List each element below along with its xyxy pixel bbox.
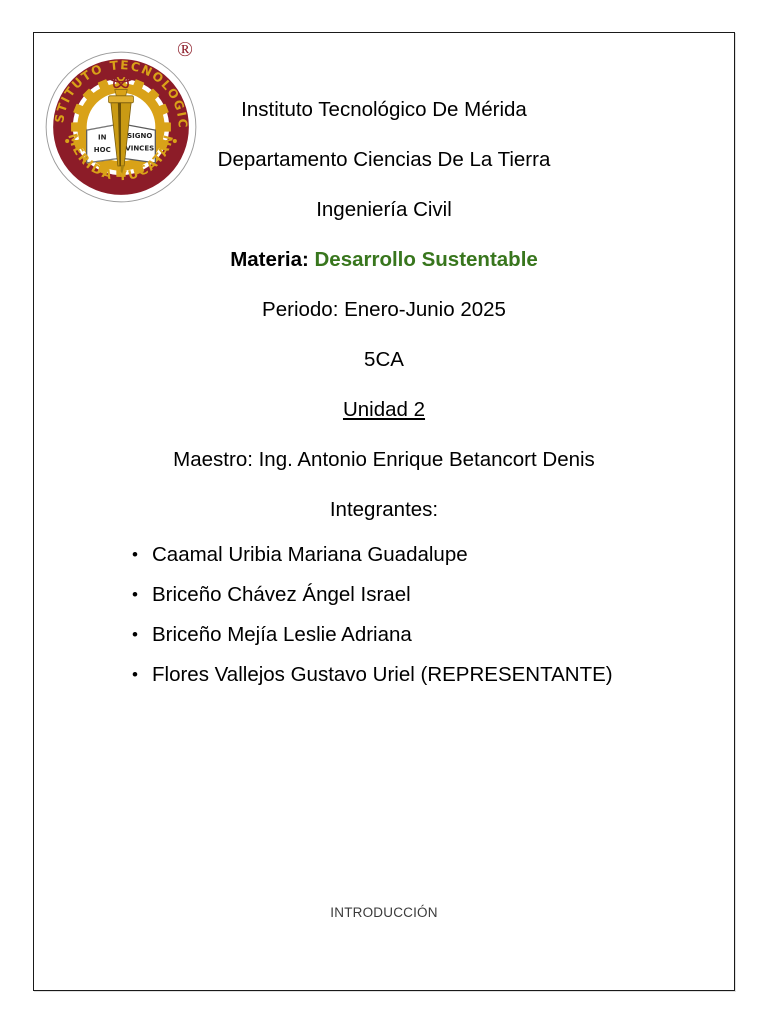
- group-line: 5CA: [34, 335, 734, 385]
- cover-text-block: Instituto Tecnológico De Mérida Departam…: [34, 85, 734, 535]
- list-item: Briceño Mejía Leslie Adriana: [152, 615, 712, 655]
- unit-text: Unidad 2: [343, 398, 425, 421]
- document-page: ®: [33, 32, 735, 991]
- subject-line: Materia: Desarrollo Sustentable: [34, 235, 734, 285]
- members-list: Caamal Uribia Mariana Guadalupe Briceño …: [130, 535, 712, 695]
- subject-label: Materia:: [230, 248, 309, 271]
- members-label: Integrantes:: [34, 485, 734, 535]
- subject-name: Desarrollo Sustentable: [315, 248, 538, 271]
- cover-page-body: ®: [34, 33, 734, 990]
- teacher-line: Maestro: Ing. Antonio Enrique Betancort …: [34, 435, 734, 485]
- unit-line: Unidad 2: [34, 385, 734, 435]
- section-heading-introduccion: INTRODUCCIÓN: [34, 905, 734, 920]
- career-line: Ingeniería Civil: [34, 185, 734, 235]
- department-line: Departamento Ciencias De La Tierra: [34, 135, 734, 185]
- list-item: Caamal Uribia Mariana Guadalupe: [152, 535, 712, 575]
- list-item: Briceño Chávez Ángel Israel: [152, 575, 712, 615]
- period-line: Periodo: Enero-Junio 2025: [34, 285, 734, 335]
- institution-name-line: Instituto Tecnológico De Mérida: [34, 85, 734, 135]
- list-item: Flores Vallejos Gustavo Uriel (REPRESENT…: [152, 655, 712, 695]
